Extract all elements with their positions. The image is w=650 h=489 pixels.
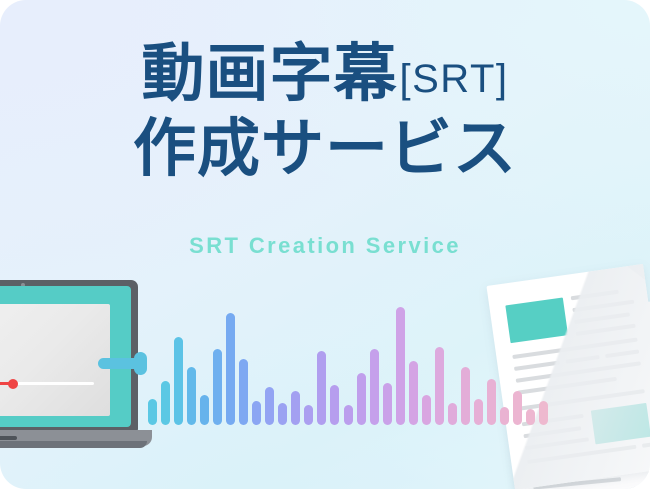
waveform-bar: [187, 367, 196, 425]
doc-text-line: [523, 426, 581, 438]
waveform-bar: [422, 395, 431, 425]
doc-text-line: [572, 300, 634, 313]
headline-japanese-primary: 動画字幕: [141, 42, 397, 105]
laptop-trackpad-notch: [0, 436, 17, 440]
doc-text-line: [576, 324, 636, 336]
headline-srt-tag: [SRT]: [399, 59, 508, 99]
connector-cap: [134, 352, 147, 375]
doc-text-line: [571, 290, 619, 301]
laptop-bezel: [0, 286, 131, 427]
headline-japanese-secondary: 作成サービス: [0, 117, 650, 180]
doc-text-line: [574, 312, 630, 324]
doc-text-line: [525, 437, 589, 450]
waveform-bar: [291, 391, 300, 425]
laptop-base-shadow: [0, 441, 147, 448]
doc-image-block: [591, 403, 650, 444]
doc-text-line: [605, 349, 639, 358]
video-progress-handle[interactable]: [8, 379, 18, 389]
waveform-bar: [526, 409, 535, 425]
laptop-lid: [0, 280, 138, 432]
waveform-bar: [330, 385, 339, 425]
video-screen: [0, 304, 110, 416]
waveform-bar: [448, 403, 457, 425]
waveform-bar: [383, 383, 392, 425]
waveform-bar: [461, 367, 470, 425]
waveform-bar: [200, 395, 209, 425]
waveform-bar: [265, 387, 274, 425]
waveform-bar: [409, 361, 418, 425]
waveform-bar: [500, 407, 509, 425]
doc-text-line: [642, 440, 650, 448]
waveform-bar: [370, 349, 379, 425]
waveform-bar: [487, 379, 496, 425]
laptop-illustration: [0, 280, 162, 470]
headline-group: 動画字幕 [SRT] 作成サービス: [0, 42, 650, 180]
waveform-bar: [278, 403, 287, 425]
waveform-bar: [317, 351, 326, 425]
waveform-bar: [539, 401, 548, 425]
waveform-bar: [148, 399, 157, 425]
waveform-bar: [239, 359, 248, 425]
waveform-bar: [357, 373, 366, 425]
promo-banner: 動画字幕 [SRT] 作成サービス SRT Creation Service: [0, 0, 650, 489]
waveform-bar: [174, 337, 183, 425]
waveform-bar: [226, 313, 235, 425]
headline-line-1: 動画字幕 [SRT]: [0, 42, 650, 105]
waveform-bar: [513, 391, 522, 425]
waveform-bar: [396, 307, 405, 425]
waveform-bar: [474, 399, 483, 425]
doc-folded-corner: [627, 264, 645, 282]
subtitle-english: SRT Creation Service: [0, 233, 650, 259]
waveform-bar: [252, 401, 261, 425]
waveform-bar: [161, 381, 170, 425]
waveform-bar: [213, 349, 222, 425]
audio-waveform: [148, 300, 548, 425]
waveform-bar: [304, 405, 313, 425]
video-progress-bar[interactable]: [0, 382, 94, 385]
doc-text-line: [565, 355, 599, 364]
waveform-bar: [344, 405, 353, 425]
waveform-bar: [435, 347, 444, 425]
